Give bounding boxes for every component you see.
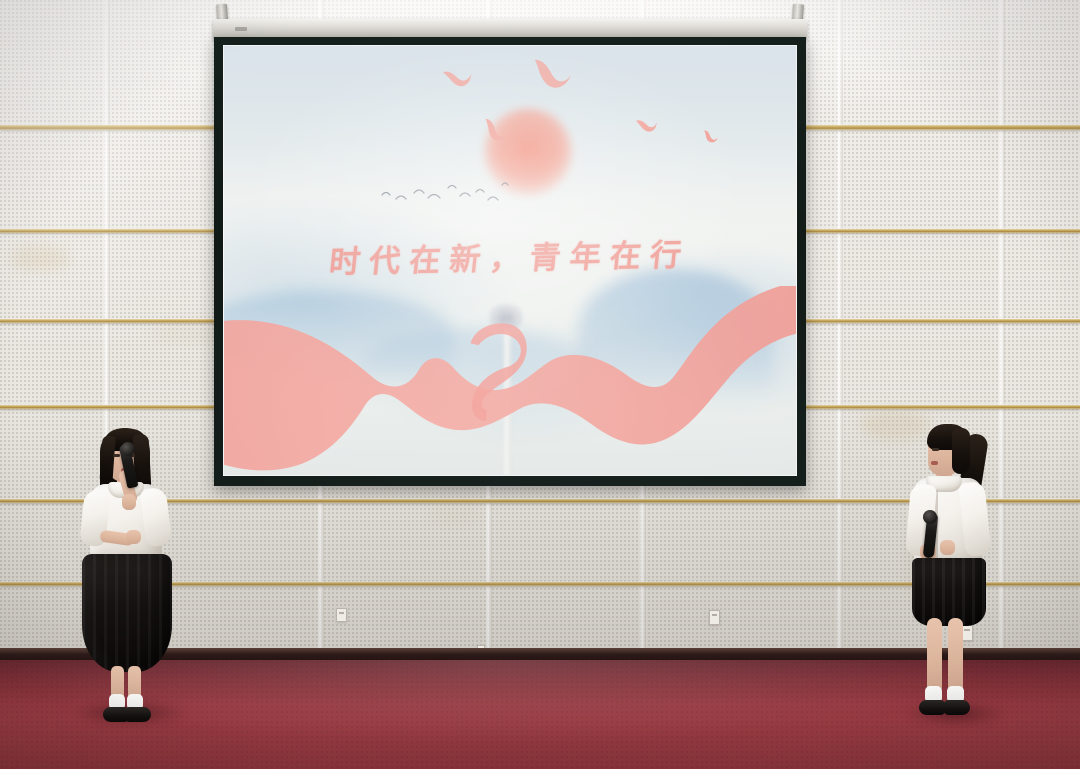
presenter-right-leg-right bbox=[948, 618, 963, 694]
screen-black-border: 时代在新，青年在行 bbox=[214, 37, 806, 486]
presenter-right-shoe-left bbox=[919, 700, 945, 715]
projection-screen[interactable]: 时代在新，青年在行 bbox=[213, 4, 807, 486]
presenter-right-hand-right bbox=[940, 540, 955, 555]
projected-slide: 时代在新，青年在行 bbox=[223, 45, 797, 476]
presenter-left-shoe-right bbox=[125, 707, 151, 722]
wall-outlet-icon bbox=[336, 608, 347, 622]
presenter-left-skirt-pleats bbox=[82, 554, 172, 672]
presenter-right-leg-left bbox=[927, 618, 942, 694]
presenter-left-hand-right bbox=[122, 494, 136, 510]
presenter-right-mouth bbox=[931, 461, 938, 465]
presenter-right[interactable] bbox=[900, 418, 1020, 728]
presenter-left[interactable] bbox=[70, 426, 190, 726]
presenter-left-hand-left bbox=[126, 530, 141, 544]
roller-brand-label bbox=[235, 27, 247, 31]
photo-scene: 时代在新，青年在行 bbox=[0, 0, 1080, 769]
presenter-right-eye bbox=[932, 448, 939, 451]
presenter-right-hair-side bbox=[952, 428, 970, 474]
presenter-right-shoe-right bbox=[944, 700, 970, 715]
projection-hotspot bbox=[224, 46, 796, 475]
presenter-left-eye-left bbox=[113, 454, 120, 457]
presenter-right-skirt-pleats bbox=[912, 558, 986, 626]
presenter-right-microphone-head bbox=[923, 510, 937, 524]
wall-outlet-icon bbox=[709, 610, 720, 625]
